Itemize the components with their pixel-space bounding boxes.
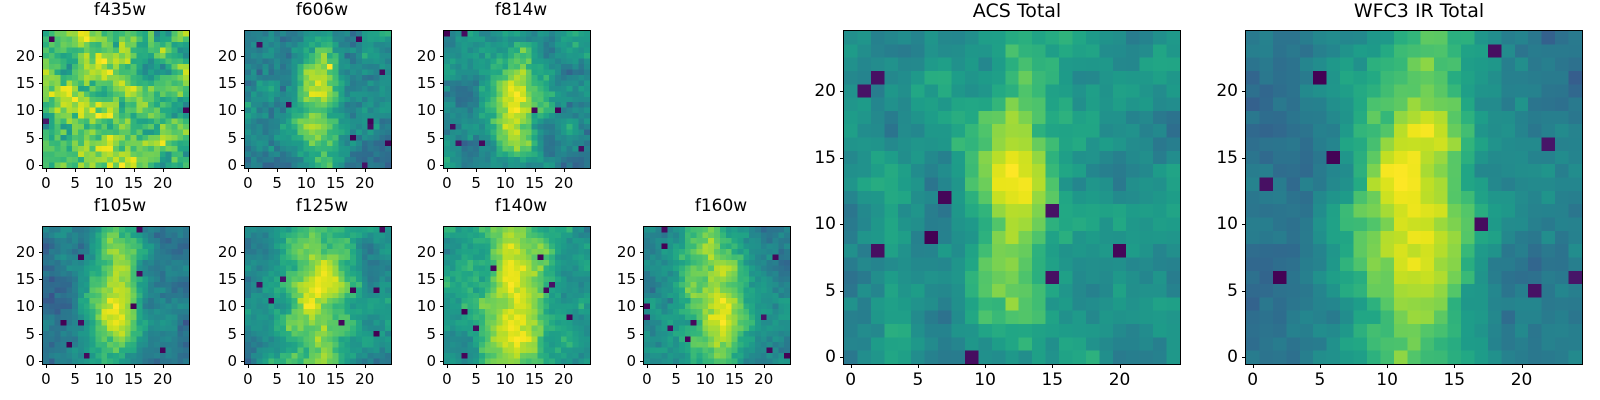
y-tick-mark: [39, 110, 43, 111]
y-tick-mark: [440, 279, 444, 280]
y-tick-label: 0: [202, 156, 237, 174]
y-tick-label: 10: [401, 297, 436, 315]
x-tick-mark: [365, 364, 366, 368]
y-tick-label: 0: [202, 352, 237, 370]
y-tick-mark: [39, 279, 43, 280]
x-tick-mark: [676, 364, 677, 368]
y-tick-mark: [1242, 291, 1246, 292]
panel-f140w: f140w0510152005101520: [401, 196, 599, 393]
y-tick-label: 20: [601, 243, 636, 261]
y-tick-label: 0: [1202, 347, 1238, 367]
x-tick-label: 5: [671, 370, 681, 388]
x-tick-label: 10: [1376, 370, 1398, 390]
x-tick-mark: [985, 364, 986, 368]
y-tick-mark: [39, 334, 43, 335]
x-tick-label: 5: [70, 174, 80, 192]
panel-f125w: f125w0510152005101520: [202, 196, 400, 393]
x-tick-mark: [918, 364, 919, 368]
x-tick-mark: [535, 364, 536, 368]
y-tick-mark: [440, 110, 444, 111]
heatmap-f606w[interactable]: [244, 30, 392, 169]
x-tick-mark: [647, 364, 648, 368]
heatmap-image-wfc3-ir-total: [1246, 31, 1582, 364]
y-tick-label: 5: [202, 129, 237, 147]
y-tick-mark: [840, 357, 844, 358]
panel-title-f105w: f105w: [0, 196, 198, 216]
y-tick-label: 15: [401, 74, 436, 92]
x-tick-mark: [505, 168, 506, 172]
y-tick-mark: [1242, 224, 1246, 225]
x-tick-label: 5: [1314, 370, 1325, 390]
x-tick-label: 10: [297, 174, 316, 192]
y-tick-mark: [840, 224, 844, 225]
x-tick-mark: [447, 364, 448, 368]
y-tick-mark: [39, 165, 43, 166]
x-tick-label: 0: [845, 370, 856, 390]
y-tick-label: 0: [401, 352, 436, 370]
x-tick-mark: [1387, 364, 1388, 368]
y-tick-label: 0: [800, 347, 836, 367]
y-tick-label: 5: [1202, 281, 1238, 301]
x-tick-mark: [447, 168, 448, 172]
y-tick-mark: [39, 361, 43, 362]
x-tick-label: 15: [124, 370, 143, 388]
heatmap-image-f125w: [245, 227, 391, 364]
x-tick-label: 15: [1041, 370, 1063, 390]
y-tick-mark: [640, 334, 644, 335]
x-tick-label: 15: [525, 370, 544, 388]
y-tick-mark: [241, 306, 245, 307]
x-tick-mark: [248, 364, 249, 368]
x-tick-mark: [1253, 364, 1254, 368]
x-tick-label: 15: [725, 370, 744, 388]
y-tick-label: 5: [202, 325, 237, 343]
y-tick-mark: [440, 252, 444, 253]
x-tick-label: 20: [1511, 370, 1533, 390]
y-tick-label: 15: [202, 270, 237, 288]
x-tick-label: 10: [297, 370, 316, 388]
y-tick-mark: [1242, 158, 1246, 159]
x-tick-mark: [336, 364, 337, 368]
y-tick-label: 10: [0, 101, 35, 119]
panel-acs-total: ACS Total0510152005101520: [800, 0, 1191, 395]
y-tick-label: 5: [0, 325, 35, 343]
x-tick-label: 15: [124, 174, 143, 192]
y-tick-label: 10: [0, 297, 35, 315]
x-tick-label: 10: [974, 370, 996, 390]
x-tick-label: 20: [754, 370, 773, 388]
heatmap-f125w[interactable]: [244, 226, 392, 365]
x-tick-mark: [505, 364, 506, 368]
y-tick-mark: [241, 138, 245, 139]
panel-title-f140w: f140w: [401, 196, 599, 216]
x-tick-label: 5: [471, 370, 481, 388]
y-tick-mark: [640, 306, 644, 307]
x-tick-label: 20: [554, 174, 573, 192]
y-tick-mark: [39, 83, 43, 84]
y-tick-label: 0: [0, 352, 35, 370]
x-tick-label: 10: [95, 370, 114, 388]
heatmap-image-f140w: [444, 227, 590, 364]
x-tick-label: 20: [355, 370, 374, 388]
y-tick-label: 10: [202, 297, 237, 315]
y-tick-mark: [640, 252, 644, 253]
x-tick-label: 10: [496, 370, 515, 388]
x-tick-mark: [163, 364, 164, 368]
heatmap-acs-total[interactable]: [843, 30, 1181, 365]
panel-f160w: f160w0510152005101520: [601, 196, 799, 393]
x-tick-mark: [1052, 364, 1053, 368]
x-tick-label: 10: [95, 174, 114, 192]
y-tick-mark: [440, 83, 444, 84]
x-tick-label: 10: [496, 174, 515, 192]
y-tick-mark: [440, 165, 444, 166]
x-tick-mark: [1120, 364, 1121, 368]
x-tick-label: 0: [243, 370, 253, 388]
y-tick-label: 20: [401, 243, 436, 261]
x-tick-mark: [476, 364, 477, 368]
y-tick-label: 15: [601, 270, 636, 288]
panel-f435w: f435w0510152005101520: [0, 0, 198, 197]
y-tick-mark: [440, 56, 444, 57]
heatmap-image-f105w: [43, 227, 189, 364]
y-tick-label: 5: [401, 129, 436, 147]
y-tick-label: 20: [202, 243, 237, 261]
x-tick-mark: [851, 364, 852, 368]
x-tick-mark: [705, 364, 706, 368]
panel-title-f606w: f606w: [202, 0, 400, 20]
y-tick-mark: [241, 83, 245, 84]
heatmap-image-f160w: [644, 227, 790, 364]
heatmap-image-acs-total: [844, 31, 1180, 364]
x-tick-mark: [564, 168, 565, 172]
panel-f606w: f606w0510152005101520: [202, 0, 400, 197]
x-tick-mark: [365, 168, 366, 172]
x-tick-label: 20: [153, 370, 172, 388]
x-tick-label: 10: [696, 370, 715, 388]
heatmap-image-f435w: [43, 31, 189, 168]
panel-wfc3-ir-total: WFC3 IR Total0510152005101520: [1202, 0, 1593, 395]
x-tick-mark: [1320, 364, 1321, 368]
y-tick-label: 20: [800, 81, 836, 101]
heatmap-f814w[interactable]: [443, 30, 591, 169]
y-tick-label: 5: [0, 129, 35, 147]
x-tick-mark: [476, 168, 477, 172]
x-tick-mark: [75, 364, 76, 368]
x-tick-label: 5: [912, 370, 923, 390]
y-tick-mark: [241, 361, 245, 362]
x-tick-mark: [163, 168, 164, 172]
y-tick-mark: [241, 252, 245, 253]
y-tick-label: 15: [1202, 148, 1238, 168]
y-tick-label: 15: [0, 270, 35, 288]
y-tick-mark: [640, 361, 644, 362]
x-tick-mark: [1454, 364, 1455, 368]
y-tick-mark: [39, 306, 43, 307]
y-tick-mark: [440, 334, 444, 335]
y-tick-mark: [39, 138, 43, 139]
x-tick-mark: [564, 364, 565, 368]
y-tick-label: 10: [202, 101, 237, 119]
x-tick-mark: [104, 168, 105, 172]
x-tick-mark: [1522, 364, 1523, 368]
y-tick-mark: [840, 158, 844, 159]
x-tick-mark: [75, 168, 76, 172]
y-tick-label: 10: [1202, 214, 1238, 234]
x-tick-mark: [535, 168, 536, 172]
y-tick-label: 10: [401, 101, 436, 119]
figure-canvas: f435w0510152005101520f606w05101520051015…: [0, 0, 1600, 400]
y-tick-label: 20: [1202, 81, 1238, 101]
y-tick-mark: [39, 56, 43, 57]
y-tick-mark: [640, 279, 644, 280]
panel-title-f160w: f160w: [601, 196, 799, 216]
x-tick-mark: [306, 364, 307, 368]
x-tick-label: 0: [243, 174, 253, 192]
y-tick-label: 5: [401, 325, 436, 343]
x-tick-mark: [306, 168, 307, 172]
heatmap-wfc3-ir-total[interactable]: [1245, 30, 1583, 365]
y-tick-mark: [241, 110, 245, 111]
x-tick-mark: [134, 168, 135, 172]
x-tick-label: 0: [1247, 370, 1258, 390]
y-tick-label: 0: [401, 156, 436, 174]
x-tick-label: 5: [70, 370, 80, 388]
x-tick-label: 15: [326, 370, 345, 388]
x-tick-mark: [336, 168, 337, 172]
y-tick-label: 5: [601, 325, 636, 343]
y-tick-label: 5: [800, 281, 836, 301]
x-tick-label: 15: [326, 174, 345, 192]
x-tick-mark: [134, 364, 135, 368]
y-tick-label: 20: [202, 47, 237, 65]
y-tick-mark: [241, 334, 245, 335]
x-tick-label: 5: [272, 174, 282, 192]
y-tick-label: 0: [601, 352, 636, 370]
x-tick-label: 20: [355, 174, 374, 192]
x-tick-label: 5: [471, 174, 481, 192]
y-tick-mark: [39, 252, 43, 253]
panel-title-f814w: f814w: [401, 0, 599, 20]
x-tick-mark: [735, 364, 736, 368]
y-tick-mark: [241, 279, 245, 280]
y-tick-mark: [1242, 357, 1246, 358]
y-tick-label: 15: [0, 74, 35, 92]
x-tick-label: 0: [41, 174, 51, 192]
x-tick-label: 5: [272, 370, 282, 388]
heatmap-f105w[interactable]: [42, 226, 190, 365]
heatmap-image-f606w: [245, 31, 391, 168]
x-tick-label: 20: [1109, 370, 1131, 390]
x-tick-label: 0: [442, 174, 452, 192]
heatmap-f140w[interactable]: [443, 226, 591, 365]
x-tick-mark: [277, 364, 278, 368]
heatmap-image-f814w: [444, 31, 590, 168]
x-tick-label: 20: [554, 370, 573, 388]
panel-f105w: f105w0510152005101520: [0, 196, 198, 393]
panel-title-f435w: f435w: [0, 0, 198, 20]
y-tick-label: 10: [800, 214, 836, 234]
y-tick-mark: [1242, 91, 1246, 92]
x-tick-label: 15: [1443, 370, 1465, 390]
panel-f814w: f814w0510152005101520: [401, 0, 599, 197]
y-tick-label: 20: [401, 47, 436, 65]
x-tick-mark: [46, 364, 47, 368]
x-tick-mark: [277, 168, 278, 172]
panel-title-acs-total: ACS Total: [800, 0, 1191, 22]
heatmap-f435w[interactable]: [42, 30, 190, 169]
x-tick-label: 15: [525, 174, 544, 192]
x-tick-label: 20: [153, 174, 172, 192]
y-tick-mark: [840, 291, 844, 292]
x-tick-mark: [764, 364, 765, 368]
y-tick-mark: [241, 56, 245, 57]
y-tick-mark: [440, 306, 444, 307]
y-tick-label: 20: [0, 243, 35, 261]
x-tick-label: 0: [442, 370, 452, 388]
panel-title-f125w: f125w: [202, 196, 400, 216]
y-tick-mark: [840, 91, 844, 92]
y-tick-label: 15: [800, 148, 836, 168]
x-tick-label: 0: [41, 370, 51, 388]
y-tick-label: 10: [601, 297, 636, 315]
y-tick-mark: [440, 138, 444, 139]
x-tick-mark: [46, 168, 47, 172]
y-tick-label: 0: [0, 156, 35, 174]
y-tick-label: 15: [202, 74, 237, 92]
y-tick-mark: [241, 165, 245, 166]
x-tick-label: 0: [642, 370, 652, 388]
heatmap-f160w[interactable]: [643, 226, 791, 365]
x-tick-mark: [104, 364, 105, 368]
x-tick-mark: [248, 168, 249, 172]
panel-title-wfc3-ir-total: WFC3 IR Total: [1202, 0, 1593, 22]
y-tick-label: 20: [0, 47, 35, 65]
y-tick-label: 15: [401, 270, 436, 288]
y-tick-mark: [440, 361, 444, 362]
